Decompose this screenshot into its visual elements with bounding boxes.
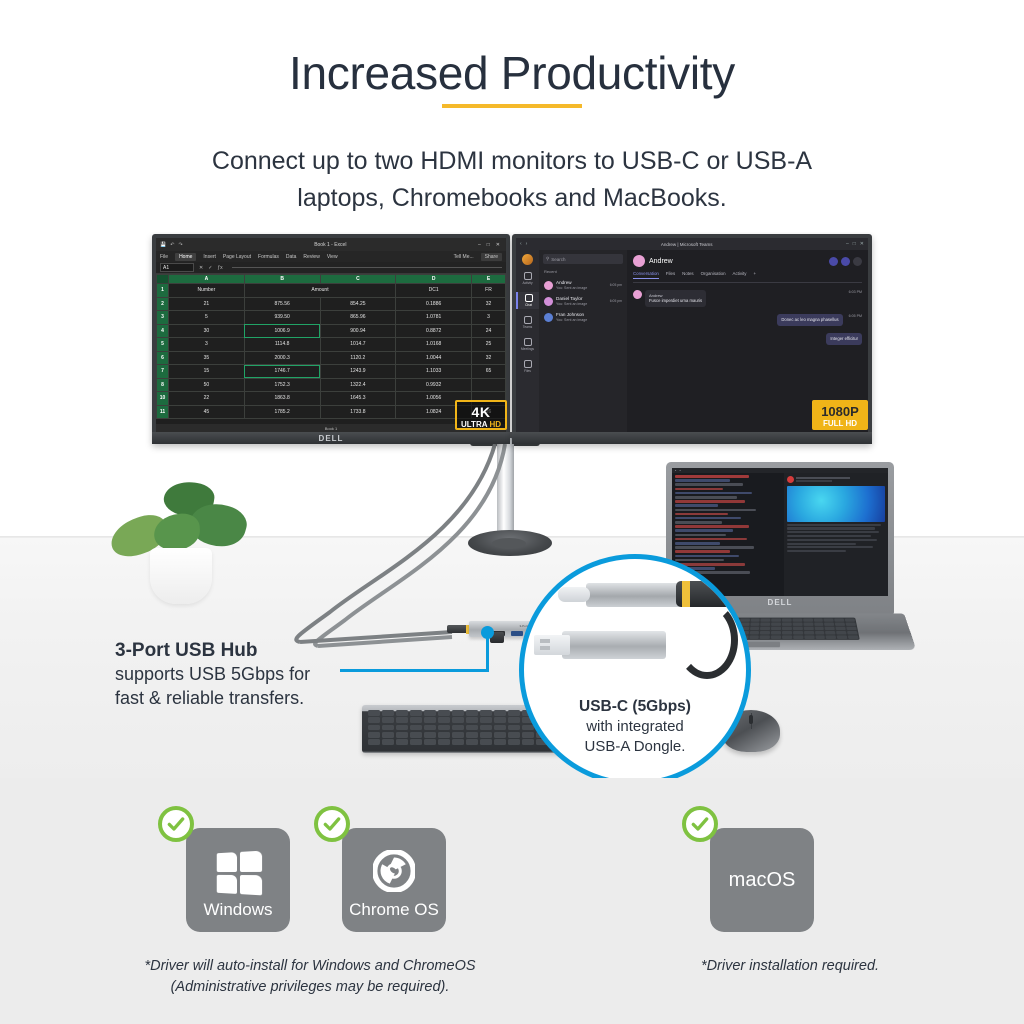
teams-app-rail[interactable]: Activity Chat Teams Meetings [516, 250, 539, 432]
table-row[interactable]: 6 35 2000.3 1120.2 1.0044 32 [157, 351, 506, 365]
avatar[interactable] [522, 254, 533, 265]
cell-a5[interactable]: 3 [169, 338, 245, 352]
badge-4k-hd: HD [489, 420, 501, 429]
cell-d8[interactable]: 0.9932 [396, 378, 472, 392]
cell-d4[interactable]: 0.8872 [396, 324, 472, 338]
excel-formula-bar[interactable]: A1 ✕ ✓ ƒx [156, 262, 506, 274]
hub-callout-title: 3-Port USB Hub [115, 639, 345, 663]
os-compatibility-section: Windows Chrome OS macOS *Driver will aut… [0, 778, 1024, 1024]
cell-a10[interactable]: 22 [169, 392, 245, 406]
teams-nav-arrows[interactable]: ‹ › [520, 241, 527, 247]
ribbon-tab-home[interactable]: Home [175, 253, 196, 261]
check-icon [690, 814, 710, 834]
column-header-c[interactable]: C [320, 275, 396, 284]
cell-d6[interactable]: 1.0044 [396, 351, 472, 365]
chrome-logo-icon [373, 850, 415, 892]
table-row[interactable]: 2 21 875.56 854.25 0.1886 32 [157, 297, 506, 311]
people-icon [524, 316, 532, 324]
monitor-right-chin [512, 432, 872, 444]
os-tile-chromeos: Chrome OS [342, 828, 446, 932]
badge-1080-line1: 1080P [814, 405, 866, 418]
insert-function-icon[interactable]: ƒx [217, 265, 222, 271]
cell-e2[interactable]: 32 [472, 297, 506, 311]
close-icon[interactable]: ✕ [860, 241, 864, 247]
cell-a6[interactable]: 35 [169, 351, 245, 365]
cell-c10[interactable]: 1645.3 [320, 392, 396, 406]
audio-call-icon[interactable] [841, 257, 850, 266]
search-icon: ⚲ [546, 256, 549, 262]
preview-image [787, 486, 885, 522]
footnote-left: *Driver will auto-install for Windows an… [40, 956, 580, 997]
avatar [633, 290, 642, 299]
cell-c11[interactable]: 1733.8 [320, 405, 396, 419]
list-item[interactable]: Andrew You: Sent an image 6:05 pm [543, 277, 623, 293]
sidebar-item-teams[interactable]: Teams [516, 314, 539, 331]
cell-a11[interactable]: 45 [169, 405, 245, 419]
chat-name: Fran Johnson [556, 312, 587, 317]
check-icon [322, 814, 342, 834]
cell-c2[interactable]: 854.25 [320, 297, 396, 311]
cell-a3[interactable]: 5 [169, 311, 245, 325]
subtitle-line-1: Connect up to two HDMI monitors to USB-C… [0, 143, 1024, 180]
callout-line-1: USB-C (5Gbps) [524, 697, 746, 717]
cell-c8[interactable]: 1322.4 [320, 378, 396, 392]
table-row[interactable]: 10 22 1863.8 1645.3 1.0056 [157, 392, 506, 406]
os-tile-windows: Windows [186, 828, 290, 932]
usb-c-connector [558, 587, 590, 602]
excel-grid[interactable]: A B C D E 1 Number Amount DC1 FR 2 [156, 274, 506, 419]
maximize-icon[interactable]: □ [853, 241, 856, 247]
chat-preview: You: Sent an image [556, 302, 587, 306]
badge-1080p-full-hd: 1080P FULL HD [812, 400, 868, 430]
cell-e8[interactable] [472, 378, 506, 392]
sidebar-item-meetings[interactable]: Meetings [516, 336, 539, 353]
badge-4k-ultra-hd: 4K ULTRA HD [455, 400, 507, 430]
teams-window-controls[interactable]: – □ ✕ [846, 241, 864, 247]
cell-b11[interactable]: 1785.2 [244, 405, 320, 419]
cell-e4[interactable]: 24 [472, 324, 506, 338]
select-all-corner[interactable] [157, 275, 169, 284]
cell-d2[interactable]: 0.1886 [396, 297, 472, 311]
tab-conversation[interactable]: Conversation [633, 271, 659, 279]
row-header[interactable]: 2 [157, 297, 169, 311]
chat-name: Andrew [556, 280, 587, 285]
sidebar-item-activity[interactable]: Activity [516, 270, 539, 287]
minimize-icon[interactable]: – [478, 242, 481, 248]
cell-e3[interactable]: 3 [472, 311, 506, 325]
chat-preview: You: Sent an image [556, 318, 587, 322]
monitor-left-screen: 💾 ↶ ↷ Book 1 - Excel – □ ✕ File Home Ins… [156, 238, 506, 432]
callout-text: USB-C (5Gbps) with integrated USB-A Dong… [524, 697, 746, 757]
check-badge-macos [682, 806, 718, 842]
cell-e7[interactable]: 65 [472, 365, 506, 379]
check-badge-windows [158, 806, 194, 842]
cable-loop [676, 601, 738, 679]
callout-line-2: with integrated [524, 717, 746, 737]
accept-formula-icon[interactable]: ✓ [208, 265, 212, 271]
back-icon[interactable]: ‹ [520, 241, 522, 247]
product-callout: USB-C (5Gbps) with integrated USB-A Dong… [519, 554, 751, 778]
teams-chat-list[interactable]: ⚲ Search Recent Andrew You: Sent an imag… [539, 250, 627, 432]
os-tile-label: Windows [204, 900, 273, 920]
cell-b2[interactable]: 875.56 [244, 297, 320, 311]
formula-input[interactable] [232, 267, 502, 268]
avatar [544, 281, 553, 290]
usb-a-dongle-body [562, 631, 666, 659]
hub-pointer-line [340, 669, 488, 672]
tab-add[interactable]: + [753, 271, 756, 279]
tell-me-search[interactable]: Tell Me... [454, 254, 474, 260]
message-text: Donec ac leo magna phasellus [781, 317, 838, 322]
avatar [633, 255, 645, 267]
rail-label-files: Files [524, 369, 531, 373]
hub-callout-line1: supports USB 5Gbps for [115, 663, 345, 687]
column-header-a[interactable]: A [169, 275, 245, 284]
tab-notes[interactable]: Notes [682, 271, 693, 279]
callout-circle: USB-C (5Gbps) with integrated USB-A Dong… [519, 554, 751, 778]
video-call-icon[interactable] [829, 257, 838, 266]
badge-4k-line1: 4K [457, 405, 505, 419]
cell-b3[interactable]: 939.50 [244, 311, 320, 325]
check-badge-chromeos [314, 806, 350, 842]
cell-e1[interactable]: FR [472, 284, 506, 298]
share-button[interactable]: Share [481, 253, 502, 261]
page-title: Increased Productivity [0, 46, 1024, 100]
chat-icon [525, 294, 533, 302]
name-box[interactable]: A1 [160, 263, 194, 272]
teams-window-title: Andrew | Microsoft Teams [527, 242, 846, 247]
ide-menu-dot: ● [675, 469, 676, 472]
calendar-icon [524, 338, 532, 346]
cell-c4[interactable]: 900.94 [320, 324, 396, 338]
potted-plant [98, 470, 268, 610]
chat-list-section-label: Recent [544, 269, 623, 274]
table-row[interactable]: 11 45 1785.2 1733.8 1.0824 26 [157, 405, 506, 419]
footnote-left-line1: *Driver will auto-install for Windows an… [40, 956, 580, 977]
cell-b10[interactable]: 1863.8 [244, 392, 320, 406]
cable-accent-ring [682, 581, 690, 607]
ribbon-tab-page-layout[interactable]: Page Layout [223, 254, 251, 260]
ribbon-tab-file[interactable]: File [160, 254, 168, 260]
cell-b5[interactable]: 1114.8 [244, 338, 320, 352]
row-header[interactable]: 4 [157, 324, 169, 338]
list-item[interactable]: Fran Johnson You: Sent an image [543, 309, 623, 325]
row-header[interactable]: 10 [157, 392, 169, 406]
column-header-d[interactable]: D [396, 275, 472, 284]
message-time: 6:05 PM [849, 314, 862, 326]
excel-window: 💾 ↶ ↷ Book 1 - Excel – □ ✕ File Home Ins… [156, 238, 506, 432]
excel-ribbon-tabs[interactable]: File Home Insert Page Layout Formulas Da… [156, 251, 506, 262]
windows-logo-icon [217, 851, 262, 896]
excel-window-title: Book 1 - Excel [183, 242, 478, 248]
excel-column-header-row: A B C D E [157, 275, 506, 284]
badge-1080-line2: FULL HD [814, 420, 866, 428]
excel-status-bar: Book 1 [156, 424, 506, 432]
maximize-icon[interactable]: □ [487, 242, 490, 248]
chat-name: Daniel Taylor [556, 296, 587, 301]
page-subtitle: Connect up to two HDMI monitors to USB-C… [0, 143, 1024, 217]
close-icon[interactable]: ✕ [496, 242, 500, 248]
bell-icon [524, 272, 532, 280]
save-icon[interactable]: 💾 [160, 242, 166, 248]
row-header[interactable]: 11 [157, 405, 169, 419]
cell-c7[interactable]: 1243.9 [320, 365, 396, 379]
tab-activity[interactable]: Activity [733, 271, 747, 279]
cell-a4[interactable]: 30 [169, 324, 245, 338]
cell-a7[interactable]: 15 [169, 365, 245, 379]
ribbon-tab-formulas[interactable]: Formulas [258, 254, 279, 260]
badge-4k-ultra: ULTRA [461, 420, 487, 429]
message-outgoing: Integer efficitur [633, 333, 862, 345]
cell-d1[interactable]: DC1 [396, 284, 472, 298]
cell-d7[interactable]: 1.1033 [396, 365, 472, 379]
cancel-formula-icon[interactable]: ✕ [199, 265, 203, 271]
table-row[interactable]: 1 Number Amount DC1 FR [157, 284, 506, 298]
cell-a1[interactable]: Number [169, 284, 245, 298]
message-time: 6:03 PM [849, 290, 862, 307]
cell-e6[interactable]: 32 [472, 351, 506, 365]
message-incoming: Andrew Fusce imperdiet urna mauris 6:03 … [633, 290, 862, 307]
conversation-header: Andrew [633, 255, 862, 267]
chat-time: 6:05 pm [610, 283, 622, 287]
row-header[interactable]: 8 [157, 378, 169, 392]
row-header[interactable]: 5 [157, 338, 169, 352]
message-text: Integer efficitur [830, 336, 858, 341]
callout-line-3: USB-A Dongle. [524, 737, 746, 757]
row-header[interactable]: 7 [157, 365, 169, 379]
minimize-icon[interactable]: – [846, 241, 849, 247]
row-header[interactable]: 3 [157, 311, 169, 325]
row-header[interactable]: 6 [157, 351, 169, 365]
ide-preview-pane [784, 473, 888, 596]
title-underline-rule [442, 104, 582, 108]
avatar [544, 313, 553, 322]
search-placeholder: Search [551, 257, 565, 262]
cell-b7-selected[interactable]: 1746.7 [244, 365, 320, 379]
rail-label-chat: Chat [525, 303, 532, 307]
product-scene: 💾 ↶ ↷ Book 1 - Excel – □ ✕ File Home Ins… [0, 232, 1024, 778]
cell-d3[interactable]: 1.0781 [396, 311, 472, 325]
cell-b6[interactable]: 2000.3 [244, 351, 320, 365]
message-text: Fusce imperdiet urna mauris [649, 298, 702, 303]
conversation-title: Andrew [649, 258, 673, 265]
hub-callout-line2: fast & reliable transfers. [115, 687, 345, 711]
cell-b1[interactable]: Amount [244, 284, 396, 298]
ribbon-tab-data[interactable]: Data [286, 254, 297, 260]
table-row[interactable]: 4 30 1006.9 900.94 0.8872 24 [157, 324, 506, 338]
table-row[interactable]: 7 15 1746.7 1243.9 1.1033 65 [157, 365, 506, 379]
search-input[interactable]: ⚲ Search [543, 254, 623, 264]
hub-callout-text: 3-Port USB Hub supports USB 5Gbps for fa… [115, 639, 345, 710]
usb-c-cable-body [586, 583, 682, 607]
monitor-left-chin: DELL [152, 432, 510, 444]
plant-pot [150, 548, 212, 604]
excel-quick-access[interactable]: 💾 ↶ ↷ [160, 242, 183, 248]
dell-logo: DELL [319, 434, 344, 443]
check-icon [166, 814, 186, 834]
cell-d5[interactable]: 1.0168 [396, 338, 472, 352]
rail-label-teams: Teams [523, 325, 532, 329]
column-header-b[interactable]: B [244, 275, 320, 284]
os-tile-label: Chrome OS [349, 900, 439, 920]
table-row[interactable]: 3 5 939.50 865.96 1.0781 3 [157, 311, 506, 325]
undo-icon[interactable]: ↶ [170, 242, 174, 248]
table-row[interactable]: 8 50 1752.3 1322.4 0.9932 [157, 378, 506, 392]
hub-pointer-stem [486, 632, 489, 672]
subtitle-line-2: laptops, Chromebooks and MacBooks. [0, 180, 1024, 217]
cell-b8[interactable]: 1752.3 [244, 378, 320, 392]
rail-label-meetings: Meetings [521, 347, 534, 351]
ide-menu-dot: ● [679, 469, 680, 472]
tab-organisation[interactable]: Organisation [701, 271, 726, 279]
excel-titlebar: 💾 ↶ ↷ Book 1 - Excel – □ ✕ [156, 238, 506, 251]
ribbon-tab-insert[interactable]: Insert [203, 254, 216, 260]
conversation-actions[interactable] [829, 257, 862, 266]
message-outgoing: Donec ac leo magna phasellus 6:05 PM [633, 314, 862, 326]
row-header[interactable]: 1 [157, 284, 169, 298]
rail-label-activity: Activity [522, 281, 532, 285]
cell-e5[interactable]: 25 [472, 338, 506, 352]
screen-share-icon[interactable] [853, 257, 862, 266]
table-row[interactable]: 5 3 1114.8 1014.7 1.0168 25 [157, 338, 506, 352]
record-icon [787, 476, 794, 483]
os-tile-macos: macOS [710, 828, 814, 932]
ribbon-tab-review[interactable]: Review [303, 254, 319, 260]
conversation-tabs[interactable]: Conversation Files Notes Organisation Ac… [633, 271, 862, 283]
cell-a8[interactable]: 50 [169, 378, 245, 392]
chat-preview: You: Sent an image [556, 286, 587, 290]
cell-c3[interactable]: 865.96 [320, 311, 396, 325]
chat-time: 6:05 pm [610, 299, 622, 303]
files-icon [524, 360, 532, 368]
sidebar-item-chat[interactable]: Chat [516, 292, 539, 309]
teams-titlebar: ‹ › Andrew | Microsoft Teams – □ ✕ [516, 238, 868, 250]
usb-a-connector [534, 635, 570, 655]
header-section: Increased Productivity Connect up to two… [0, 0, 1024, 232]
footnote-right: *Driver installation required. [600, 956, 980, 977]
cell-c6[interactable]: 1120.2 [320, 351, 396, 365]
excel-window-controls[interactable]: – □ ✕ [478, 242, 502, 248]
badge-4k-line2: ULTRA HD [457, 421, 505, 429]
os-tile-label: macOS [729, 869, 796, 892]
cell-a2[interactable]: 21 [169, 297, 245, 311]
ribbon-tab-view[interactable]: View [327, 254, 338, 260]
sidebar-item-files[interactable]: Files [516, 358, 539, 375]
avatar [544, 297, 553, 306]
column-header-e[interactable]: E [472, 275, 506, 284]
cell-c5[interactable]: 1014.7 [320, 338, 396, 352]
cell-b4-selected[interactable]: 1006.9 [244, 324, 320, 338]
tab-files[interactable]: Files [666, 271, 675, 279]
list-item[interactable]: Daniel Taylor You: Sent an image 6:05 pm [543, 293, 623, 309]
footnote-left-line2: (Administrative privileges may be requir… [40, 977, 580, 998]
